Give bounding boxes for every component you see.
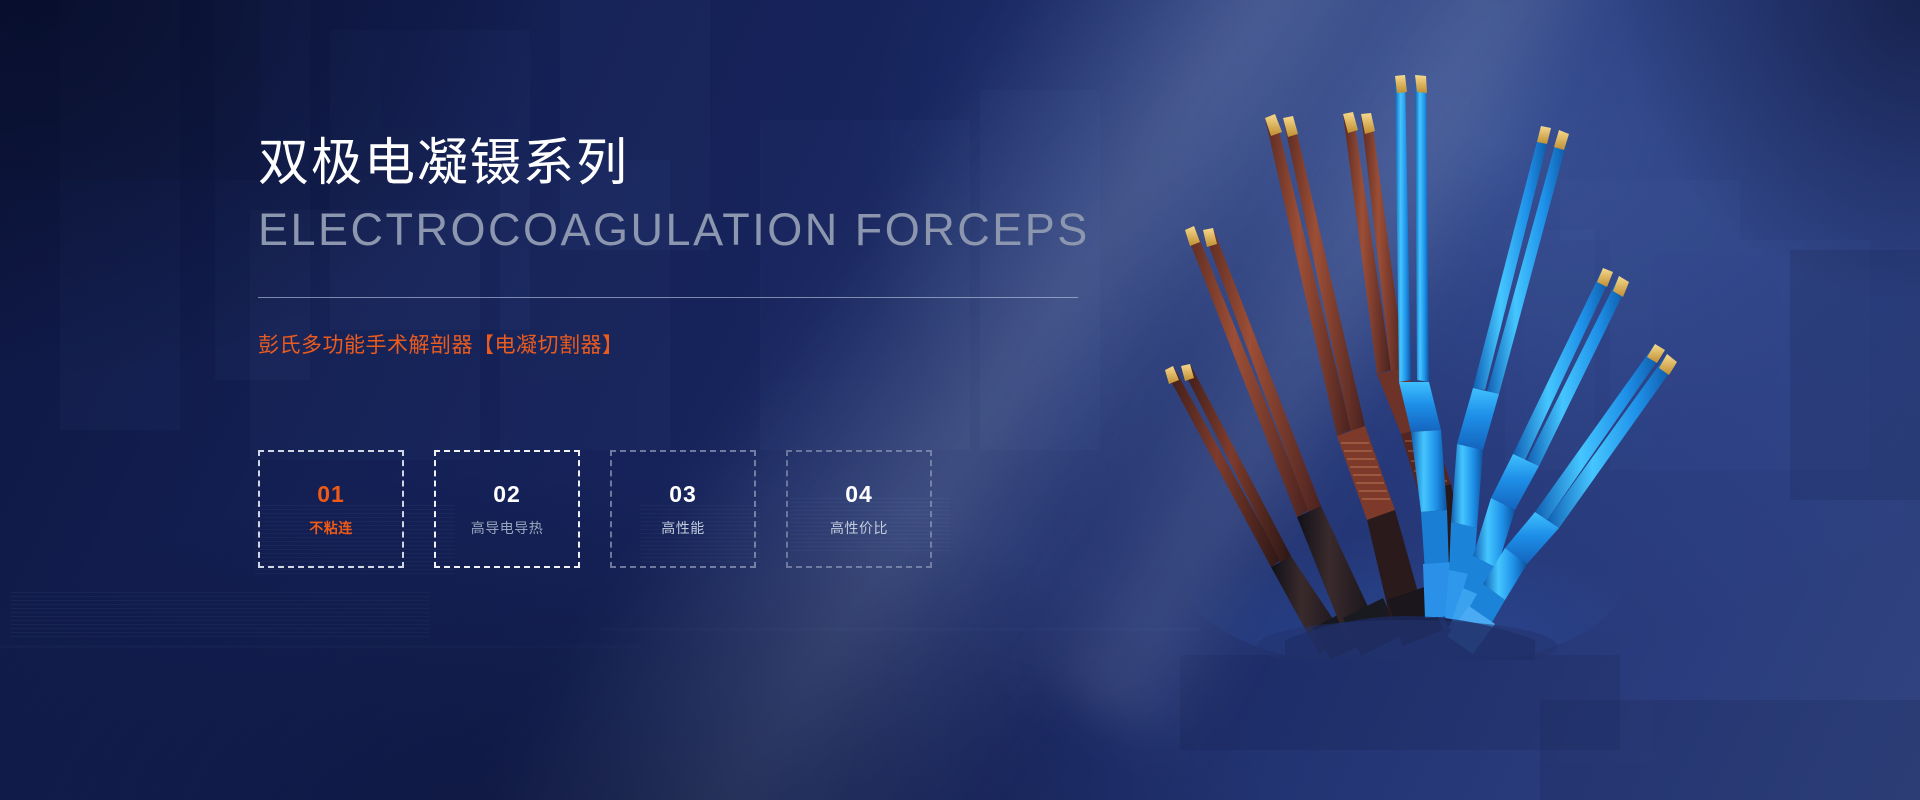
feature-card-02[interactable]: 02 高导电导热	[434, 450, 580, 568]
feature-list: 01 不粘连 02 高导电导热 03 高性能 04 高性价比	[258, 450, 932, 568]
divider	[258, 297, 1078, 298]
feature-card-01[interactable]: 01 不粘连	[258, 450, 404, 568]
feature-label: 高导电导热	[471, 521, 544, 535]
page-subtitle-english: ELECTROCOAGULATION FORCEPS	[258, 207, 1090, 252]
product-banner: 双极电凝镊系列 ELECTROCOAGULATION FORCEPS 彭氏多功能…	[0, 0, 1920, 800]
product-image-forceps-fan	[1095, 40, 1715, 660]
feature-card-04[interactable]: 04 高性价比	[786, 450, 932, 568]
feature-card-03[interactable]: 03 高性能	[610, 450, 756, 568]
feature-number: 01	[317, 483, 345, 506]
feature-number: 04	[845, 483, 873, 506]
feature-number: 03	[669, 483, 697, 506]
feature-label: 不粘连	[309, 521, 353, 535]
page-title: 双极电凝镊系列	[258, 137, 629, 188]
feature-label: 高性能	[661, 521, 705, 535]
feature-number: 02	[493, 483, 521, 506]
feature-label: 高性价比	[830, 521, 888, 535]
text-content: 双极电凝镊系列 ELECTROCOAGULATION FORCEPS 彭氏多功能…	[258, 0, 1158, 800]
product-subtitle: 彭氏多功能手术解剖器【电凝切割器】	[258, 335, 624, 356]
